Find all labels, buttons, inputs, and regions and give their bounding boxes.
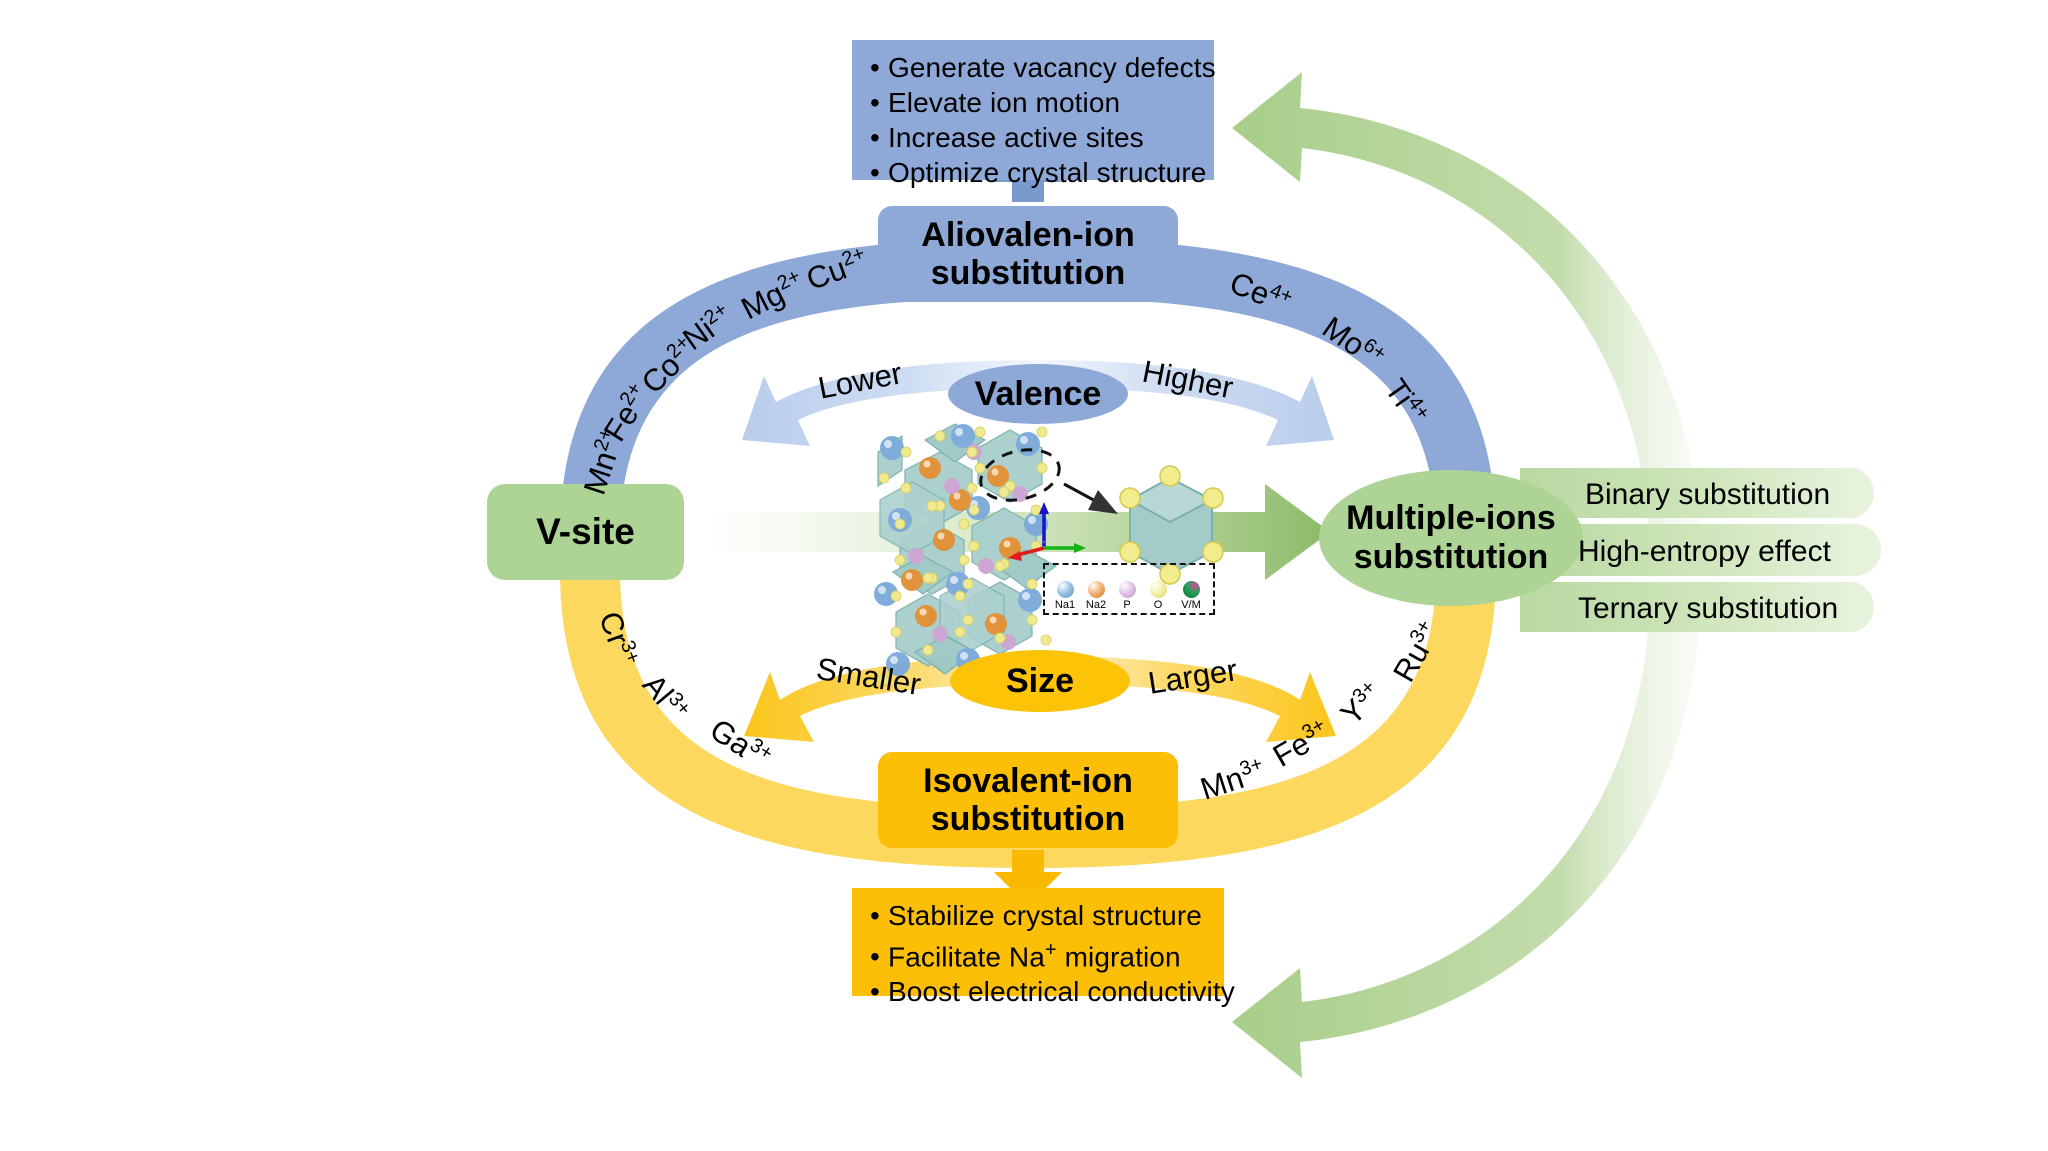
aliovalent-outcomes-box: •Generate vacancy defects •Elevate ion m…: [852, 40, 1214, 180]
multi-line-1: Multiple-ions: [1346, 499, 1556, 538]
v-site-text: V-site: [536, 511, 635, 553]
size-axis-label: Size: [950, 650, 1130, 712]
crystal-structure-illustration: [874, 411, 1223, 685]
outcome-item: •Increase active sites: [870, 120, 1196, 155]
legend-label: O: [1154, 599, 1163, 611]
v-site-label[interactable]: V-site: [487, 484, 684, 580]
superscript-charge: +: [1045, 939, 1057, 961]
valence-text: Valence: [975, 375, 1102, 414]
outcome-item: •Facilitate Na+ migration: [870, 933, 1206, 974]
outcome-item: •Elevate ion motion: [870, 85, 1196, 120]
valence-axis-label: Valence: [948, 364, 1128, 424]
isovalent-substitution-label[interactable]: Isovalent-ion substitution: [878, 752, 1178, 848]
isovalent-outcomes-box: •Stabilize crystal structure •Facilitate…: [852, 888, 1224, 996]
legend-label: V/M: [1181, 599, 1201, 611]
multi-line-2: substitution: [1354, 538, 1549, 577]
multiple-ions-item-high-entropy[interactable]: High-entropy effect: [1578, 535, 1831, 569]
pill-line-2: substitution: [931, 254, 1126, 292]
aliovalent-substitution-label[interactable]: Aliovalen-ion substitution: [878, 206, 1178, 302]
legend-item: O: [1143, 581, 1173, 611]
outcome-item: •Boost electrical conductivity: [870, 974, 1206, 1009]
legend-label: P: [1123, 599, 1130, 611]
outcome-item: •Optimize crystal structure: [870, 155, 1196, 190]
legend-swatch-na2: [1088, 581, 1105, 598]
size-text: Size: [1006, 662, 1074, 701]
legend-item: Na1: [1050, 581, 1080, 611]
pill-line-2: substitution: [931, 800, 1126, 838]
diagram-canvas: •Generate vacancy defects •Elevate ion m…: [0, 0, 2048, 1151]
outcome-item: •Stabilize crystal structure: [870, 898, 1206, 933]
legend-swatch-p: [1119, 581, 1136, 598]
legend-label: Na2: [1086, 599, 1106, 611]
legend-item: P: [1112, 581, 1142, 611]
legend-item: Na2: [1081, 581, 1111, 611]
pill-line-1: Isovalent-ion: [923, 762, 1133, 800]
multiple-ions-substitution-label[interactable]: Multiple-ions substitution: [1319, 470, 1583, 606]
crystal-structure-legend: Na1 Na2 P O V/M: [1043, 563, 1215, 615]
legend-swatch-o: [1150, 581, 1167, 598]
outcome-item: •Generate vacancy defects: [870, 50, 1196, 85]
legend-swatch-vm: [1183, 581, 1200, 598]
legend-swatch-na1: [1057, 581, 1074, 598]
multiple-ions-item-ternary[interactable]: Ternary substitution: [1578, 592, 1838, 626]
legend-item: V/M: [1174, 581, 1208, 611]
multiple-ions-item-binary[interactable]: Binary substitution: [1585, 478, 1830, 512]
legend-label: Na1: [1055, 599, 1075, 611]
pill-line-1: Aliovalen-ion: [921, 216, 1134, 254]
